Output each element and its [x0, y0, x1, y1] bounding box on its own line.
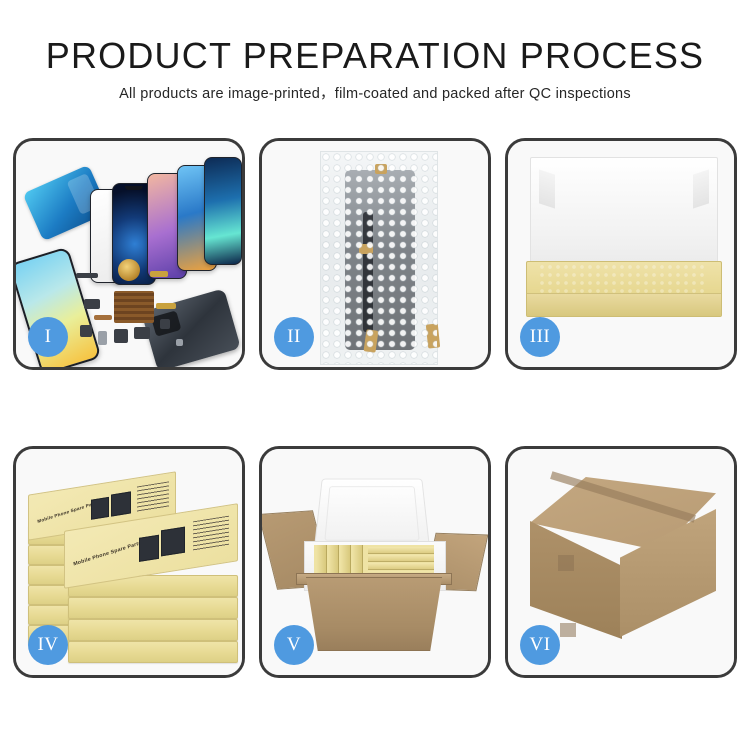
stacked-box: [68, 641, 238, 663]
box-product-image: [111, 491, 131, 516]
part-speaker: [76, 273, 98, 278]
step-badge-6: VI: [520, 625, 560, 665]
packed-box-item: [368, 547, 434, 554]
lid-flap-right: [693, 169, 709, 208]
part-connector: [134, 327, 150, 339]
box-product-image: [91, 497, 109, 520]
notch-icon: [125, 186, 143, 190]
step-panel-6[interactable]: VI: [505, 446, 737, 678]
stacked-box: [68, 619, 238, 641]
box-product-image: [161, 527, 185, 557]
box-spec-lines: [193, 516, 229, 552]
carton-handle-tab-upper: [558, 555, 574, 571]
box-spec-lines: [137, 481, 169, 512]
step-panel-2[interactable]: II: [259, 138, 491, 370]
circuit-board-part: [114, 291, 154, 323]
lid-flap-left: [539, 169, 555, 208]
part-vibrator: [114, 329, 128, 343]
step-badge-4: IV: [28, 625, 68, 665]
bubble-wrap-bag: [320, 151, 438, 365]
step-panel-1[interactable]: I: [13, 138, 245, 370]
packed-box-item: [368, 563, 434, 570]
step-panel-5[interactable]: V: [259, 446, 491, 678]
step-badge-1: I: [28, 317, 68, 357]
part-sim-tray: [98, 331, 107, 345]
inner-box-front: [527, 293, 721, 316]
box-brand-text: Mobile Phone Spare Parts: [37, 500, 99, 524]
foam-lid: [314, 479, 431, 551]
page-header: PRODUCT PREPARATION PROCESS All products…: [0, 34, 750, 104]
stacked-box: [68, 597, 238, 619]
step-panel-3[interactable]: III: [505, 138, 737, 370]
phone-screen-teal: [204, 157, 242, 265]
packed-box-item: [368, 555, 434, 562]
spare-components: [76, 263, 196, 363]
part-camera: [80, 325, 92, 337]
page-subtitle: All products are image-printed，film-coat…: [0, 84, 750, 104]
part-bracket: [84, 299, 100, 309]
box-brand-text: Mobile Phone Spare Parts: [73, 540, 142, 567]
part-button: [160, 319, 170, 329]
process-steps-grid: I II: [13, 138, 737, 678]
coil-part: [118, 259, 140, 281]
step-badge-2: II: [274, 317, 314, 357]
bubble-texture: [321, 152, 437, 364]
part-screw: [176, 339, 183, 346]
carton-handle-tab-lower: [560, 623, 576, 637]
foam-padding: [538, 263, 708, 293]
step-badge-5: V: [274, 625, 314, 665]
part-flex-cable: [150, 271, 168, 277]
step-badge-3: III: [520, 317, 560, 357]
box-product-image: [139, 535, 159, 562]
page-root: PRODUCT PREPARATION PROCESS All products…: [0, 0, 750, 750]
page-title: PRODUCT PREPARATION PROCESS: [0, 34, 750, 78]
box-lid-open: [530, 157, 718, 277]
carton-body: [300, 577, 448, 651]
step-panel-4[interactable]: Mobile Phone Spare Parts Mobile Phone Sp…: [13, 446, 245, 678]
part-ribbon: [156, 303, 176, 309]
part-antenna: [94, 315, 112, 320]
